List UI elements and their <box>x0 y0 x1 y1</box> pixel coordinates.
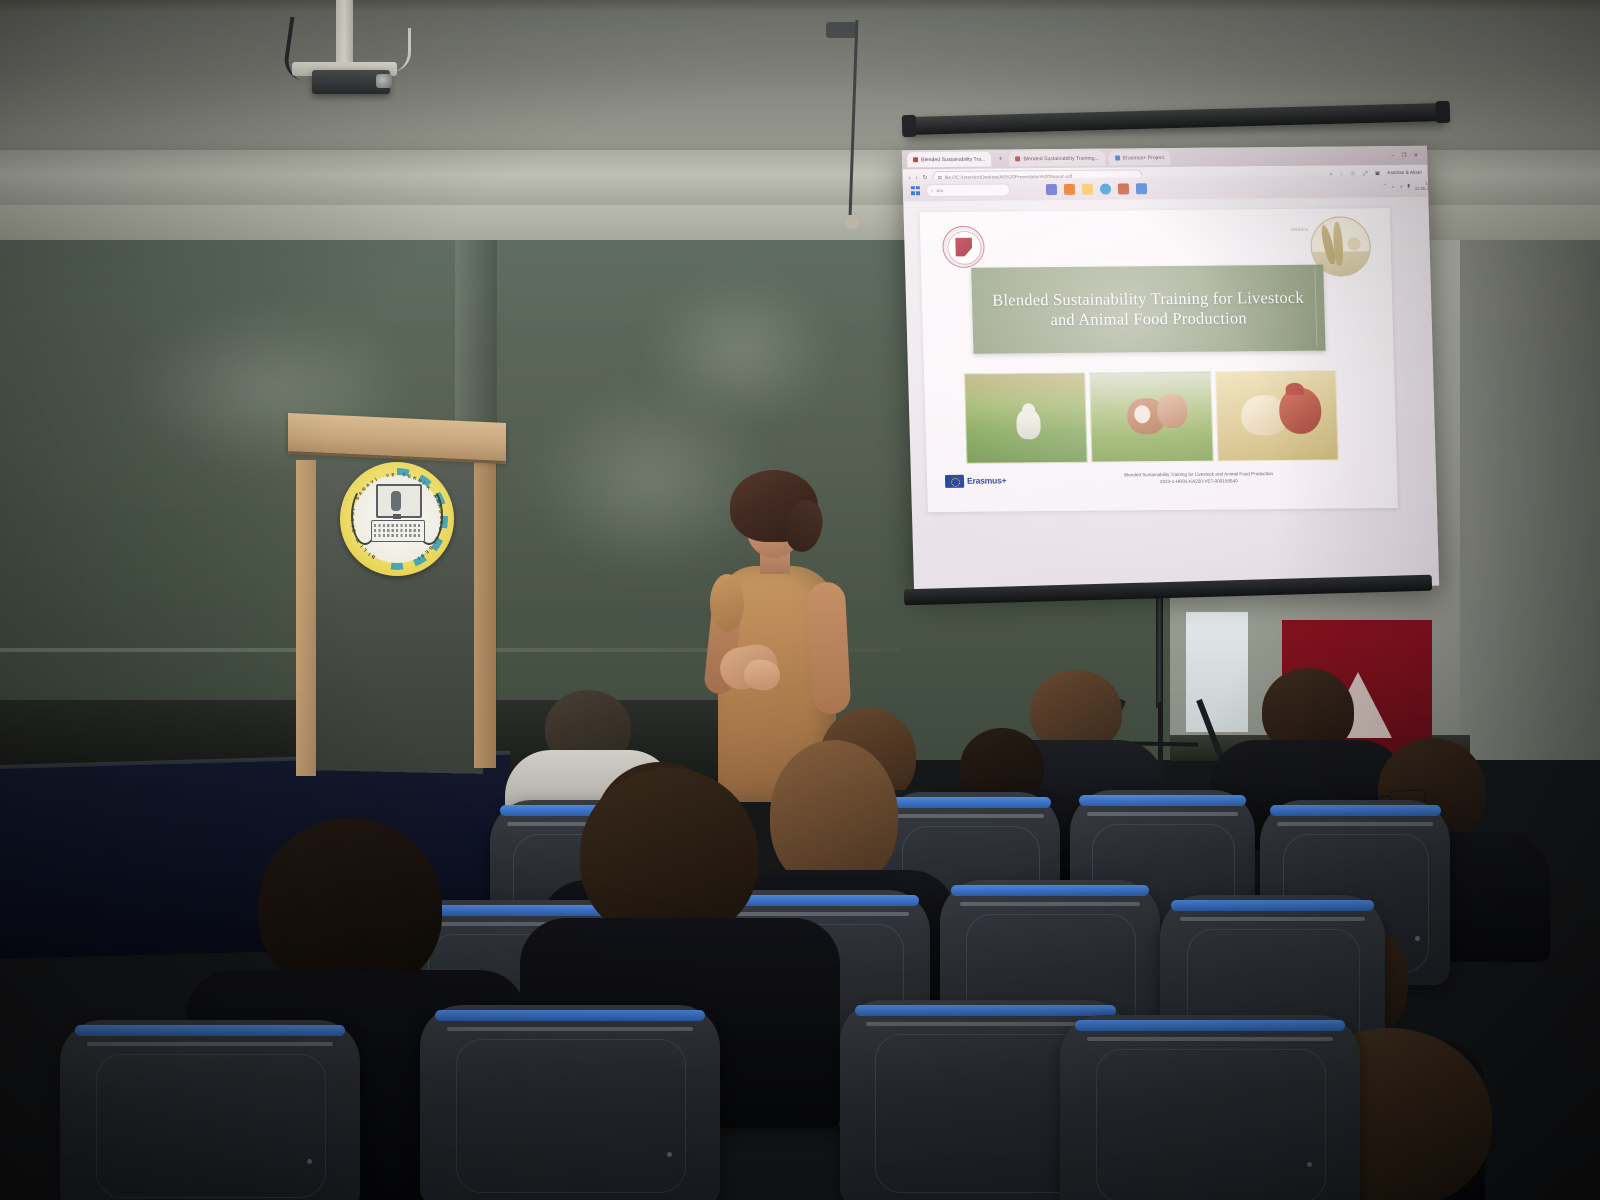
wire-clip <box>845 215 859 229</box>
erasmus-label: Erasmus+ <box>967 475 1007 485</box>
slide-footer: Erasmus+ Blended Sustainability Training… <box>945 460 1380 498</box>
volume-icon[interactable]: ◖ <box>1399 184 1402 189</box>
cow-white-patch <box>1134 405 1151 423</box>
sheep-photo <box>964 373 1088 464</box>
slide-title: Blended Sustainability Training for Live… <box>972 288 1325 331</box>
eu-flag-icon <box>945 474 964 487</box>
window-light <box>1186 612 1248 732</box>
agriculture-logo-caption: GREEN <box>1290 227 1308 232</box>
windows-taskbar: ⌕ Ara ⌃ ◗ ◖ ▮ 11:58 <box>903 175 1440 202</box>
taskbar-app-teams[interactable] <box>1046 184 1057 195</box>
projection-screen: Blended Sustainability Tra... + Blended … <box>902 146 1439 590</box>
taskbar-app-office[interactable] <box>1118 183 1129 194</box>
podium-left-rail <box>296 460 316 776</box>
chevron-up-icon[interactable]: ⌃ <box>1383 183 1387 189</box>
battery-icon[interactable]: ▮ <box>1407 183 1410 189</box>
taskbar-search-input[interactable]: ⌕ Ara <box>926 183 1010 197</box>
browser-tab-2[interactable]: Erasmus+ Project <box>1109 150 1171 166</box>
browser-tab-1[interactable]: Blended Sustainability Training... <box>1009 151 1105 167</box>
minimize-icon[interactable]: – <box>1391 153 1394 159</box>
right-wall-shadow <box>1460 240 1600 760</box>
seat <box>60 1020 360 1200</box>
browser-window: Blended Sustainability Tra... + Blended … <box>902 146 1429 202</box>
seat <box>420 1005 720 1200</box>
emblem-ring-text: BİLİM BİLGİ SANAYİ VE TEKNİK ANADOLU LİS… <box>345 467 449 571</box>
ceiling-wire-anchor <box>826 22 856 38</box>
slide-title-banner: Blended Sustainability Training for Live… <box>971 265 1325 354</box>
podium-right-rail <box>474 462 496 768</box>
audience-person-long-hair-2 <box>770 740 898 890</box>
seat <box>1060 1015 1360 1200</box>
browser-tab-0[interactable]: Blended Sustainability Tra... <box>907 152 992 168</box>
tab-label: Blended Sustainability Training... <box>1023 155 1098 162</box>
maximize-icon[interactable]: ❐ <box>1402 152 1407 158</box>
photo-scene: Blended Sustainability Tra... + Blended … <box>0 0 1600 1200</box>
tab-favicon <box>913 157 918 162</box>
cattle-photo <box>1089 372 1213 463</box>
presenter-shoulder <box>710 574 744 632</box>
presenter-right-arm <box>807 581 852 715</box>
new-tab-button[interactable]: + <box>995 155 1005 162</box>
taskbar-app-edge[interactable] <box>1100 183 1111 194</box>
institution-logo <box>942 226 985 268</box>
ceiling-seam <box>0 0 1600 10</box>
project-footer-text: Blended Sustainability Training for Live… <box>1018 471 1379 487</box>
tab-label: Blended Sustainability Tra... <box>921 156 985 163</box>
audience-person-front-center <box>580 768 758 940</box>
wifi-icon[interactable]: ◗ <box>1392 184 1395 189</box>
cow-body-2 <box>1157 394 1188 428</box>
search-icon: ⌕ <box>931 188 934 193</box>
close-icon[interactable]: ✕ <box>1413 152 1418 158</box>
tab-favicon <box>1015 156 1020 161</box>
speaker-podium: BİLİM BİLGİ SANAYİ VE TEKNİK ANADOLU LİS… <box>288 418 506 776</box>
rail-cap-left <box>902 115 917 137</box>
tab-favicon <box>1115 155 1120 160</box>
taskbar-app-firefox[interactable] <box>1064 183 1075 194</box>
rooster-comb <box>1285 382 1303 394</box>
taskbar-app-store[interactable] <box>1136 183 1147 194</box>
tab-label: Erasmus+ Project <box>1123 155 1164 161</box>
audience-person-front-left <box>258 818 442 994</box>
search-placeholder: Ara <box>936 188 943 193</box>
pdf-slide-page: GREEN Blended Sustainability Training fo… <box>920 208 1398 512</box>
start-button[interactable] <box>911 186 920 195</box>
screen-stand-leg <box>1158 702 1163 768</box>
taskbar-app-explorer[interactable] <box>1082 183 1093 194</box>
poultry-photo <box>1215 371 1339 462</box>
projector-lens <box>376 74 392 88</box>
screen-stand-pole <box>1156 596 1163 708</box>
slide-photo-strip <box>964 371 1339 464</box>
projector-mount-pole <box>336 0 353 66</box>
rail-cap-right <box>1436 101 1451 123</box>
erasmus-logo: Erasmus+ <box>945 474 1007 488</box>
window-controls: – ❐ ✕ <box>1391 152 1422 158</box>
sun-icon <box>1347 237 1360 250</box>
school-emblem: BİLİM BİLGİ SANAYİ VE TEKNİK ANADOLU LİS… <box>340 462 454 576</box>
taskbar-app-list <box>1046 183 1147 195</box>
